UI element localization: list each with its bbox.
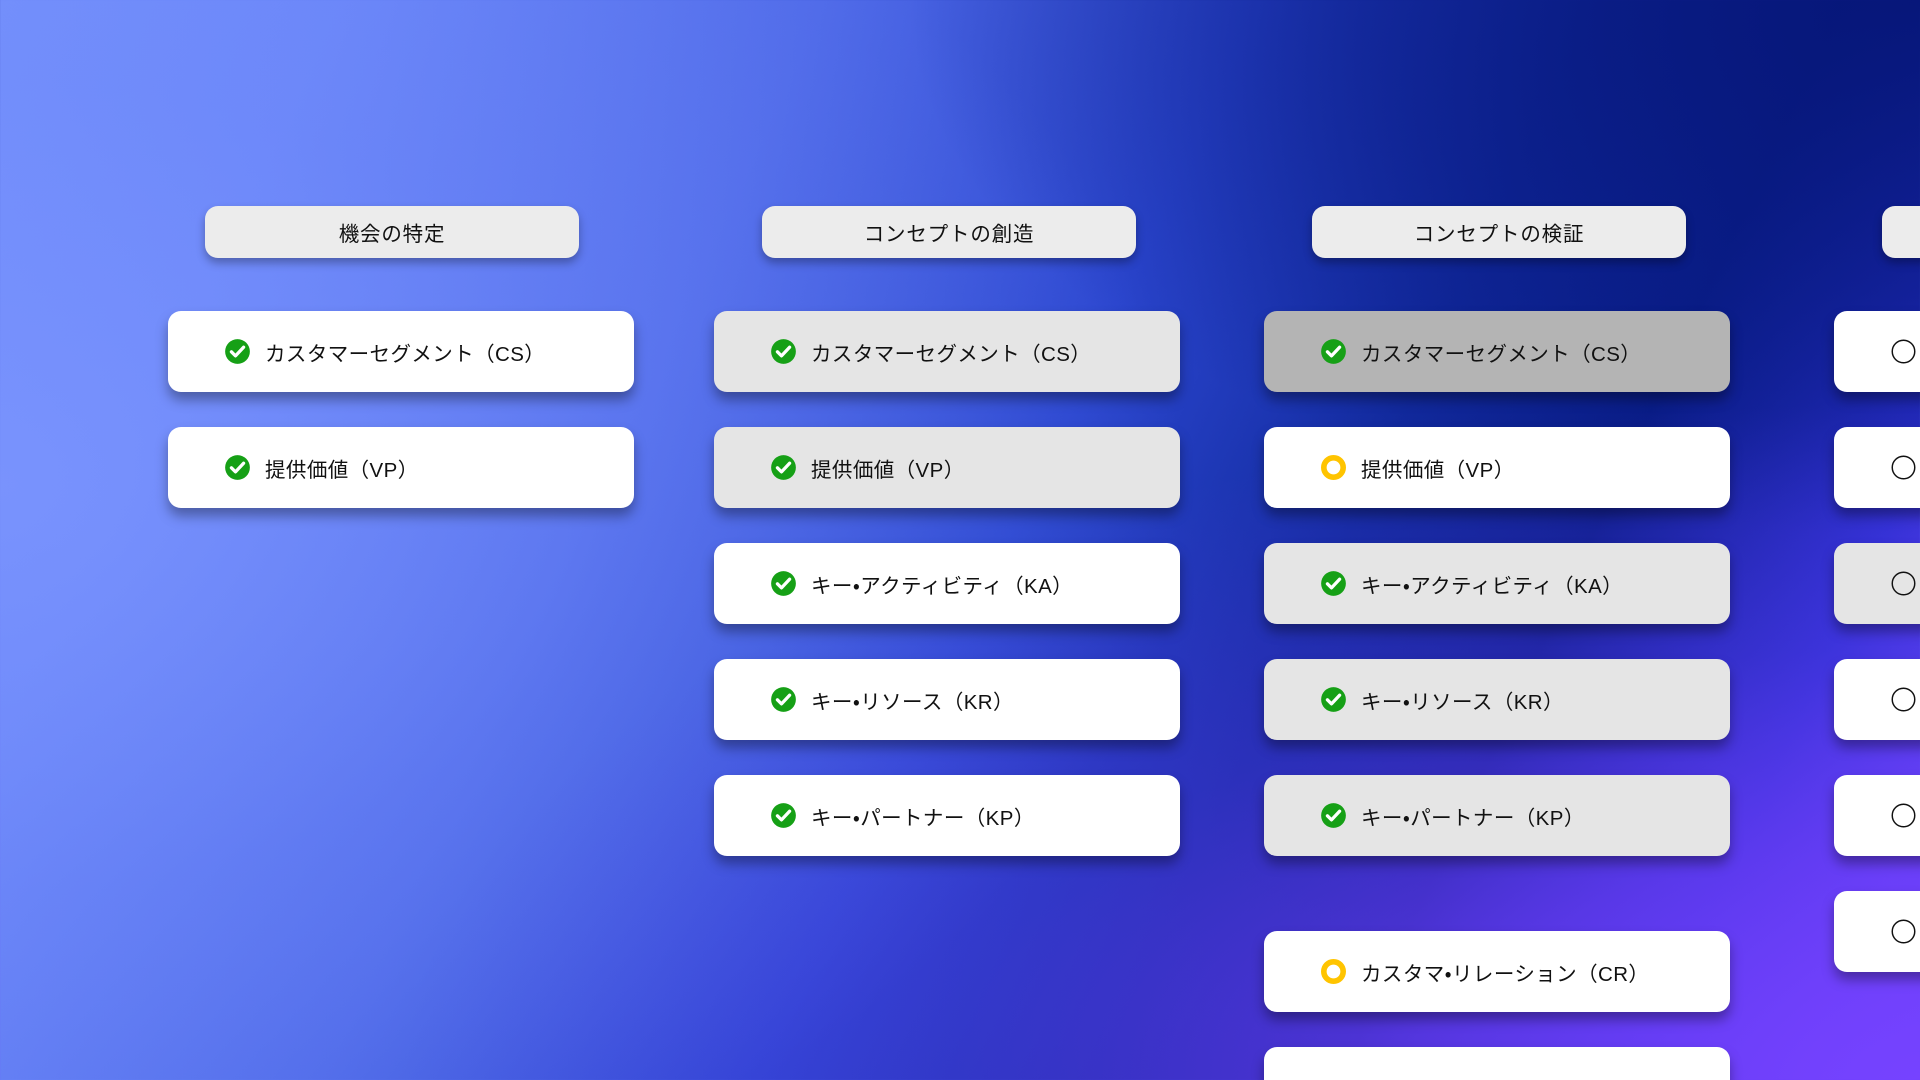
board-column-1: 機会の特定カスタマーセグメント（CS）提供価値（VP）	[168, 0, 634, 543]
column-card-list-2: カスタマーセグメント（CS）提供価値（VP）キー・アクティビティ（KA）キー・リ…	[714, 311, 1180, 891]
task-card-label: 提供価値（VP）	[1361, 453, 1515, 483]
task-card[interactable]: 提供価値（VP）	[714, 427, 1180, 508]
check-circle-icon	[1320, 686, 1347, 713]
task-card-label: キー・アクティビティ（KA）	[1361, 569, 1623, 599]
board-column-3: コンセプトの検証カスタマーセグメント（CS）提供価値（VP）キー・アクティビティ…	[1264, 0, 1730, 1080]
column-card-list-4	[1834, 311, 1920, 1007]
task-card[interactable]	[1834, 891, 1920, 972]
no-status-icon	[1320, 1074, 1347, 1080]
kanban-board: 機会の特定カスタマーセグメント（CS）提供価値（VP）コンセプトの創造カスタマー…	[0, 0, 1920, 1080]
empty-circle-icon	[1890, 686, 1917, 713]
column-header-2[interactable]: コンセプトの創造	[762, 206, 1136, 258]
task-card-label: カスタマ・リレーション（CR）	[1361, 957, 1649, 987]
check-circle-icon	[770, 338, 797, 365]
task-card-label: カスタマーセグメント（CS）	[811, 337, 1091, 367]
task-card[interactable]	[1834, 311, 1920, 392]
column-header-1[interactable]: 機会の特定	[205, 206, 579, 258]
check-circle-icon	[1320, 338, 1347, 365]
column-card-list-1: カスタマーセグメント（CS）提供価値（VP）	[168, 311, 634, 543]
task-card-label: カスタマーセグメント（CS）	[1361, 337, 1641, 367]
task-card-label: カスタマーセグメント（CS）	[265, 337, 545, 367]
task-card[interactable]: 提供価値（VP）	[168, 427, 634, 508]
check-circle-icon	[770, 802, 797, 829]
task-card[interactable]	[1834, 775, 1920, 856]
task-card-label: キー・アクティビティ（KA）	[811, 569, 1073, 599]
check-circle-icon	[1320, 802, 1347, 829]
task-card[interactable]: カスタマ・リレーション（CR）	[1264, 931, 1730, 1012]
task-card[interactable]	[1834, 543, 1920, 624]
task-card-label: キー・パートナー（KP）	[811, 801, 1035, 831]
empty-circle-icon	[1890, 918, 1917, 945]
board-column-4	[1834, 0, 1920, 1007]
task-card[interactable]: カスタマーセグメント（CS）	[714, 311, 1180, 392]
task-card[interactable]: キー・アクティビティ（KA）	[1264, 543, 1730, 624]
task-card[interactable]: キー・リソース（KR）	[714, 659, 1180, 740]
task-card[interactable]: キー・アクティビティ（KA）	[714, 543, 1180, 624]
empty-circle-icon	[1890, 338, 1917, 365]
task-card-label: キー・リソース（KR）	[811, 685, 1014, 715]
task-card-label: キー・パートナー（KP）	[1361, 801, 1585, 831]
task-card[interactable]	[1834, 659, 1920, 740]
task-card[interactable]: キー・パートナー（KP）	[1264, 775, 1730, 856]
task-card[interactable]: カスタマーセグメント（CS）	[1264, 311, 1730, 392]
board-column-2: コンセプトの創造カスタマーセグメント（CS）提供価値（VP）キー・アクティビティ…	[714, 0, 1180, 891]
task-card[interactable]: カスタマーセグメント（CS）	[168, 311, 634, 392]
check-circle-icon	[770, 454, 797, 481]
column-header-4[interactable]	[1882, 206, 1920, 258]
column-card-list-3: カスタマーセグメント（CS）提供価値（VP）キー・アクティビティ（KA）キー・リ…	[1264, 311, 1730, 1080]
check-circle-icon	[224, 454, 251, 481]
task-card-label: キー・リソース（KR）	[1361, 685, 1564, 715]
task-card-label: 提供価値（VP）	[265, 453, 419, 483]
task-card-label: 提供価値（VP）	[811, 453, 965, 483]
column-header-3[interactable]: コンセプトの検証	[1312, 206, 1686, 258]
check-circle-icon	[1320, 570, 1347, 597]
empty-circle-icon	[1890, 802, 1917, 829]
task-card[interactable]	[1264, 1047, 1730, 1080]
pending-ring-icon	[1320, 454, 1347, 481]
empty-circle-icon	[1890, 570, 1917, 597]
check-circle-icon	[770, 570, 797, 597]
check-circle-icon	[224, 338, 251, 365]
task-card[interactable]: キー・パートナー（KP）	[714, 775, 1180, 856]
check-circle-icon	[770, 686, 797, 713]
task-card[interactable]	[1834, 427, 1920, 508]
empty-circle-icon	[1890, 454, 1917, 481]
task-card[interactable]: キー・リソース（KR）	[1264, 659, 1730, 740]
pending-ring-icon	[1320, 958, 1347, 985]
task-card[interactable]: 提供価値（VP）	[1264, 427, 1730, 508]
